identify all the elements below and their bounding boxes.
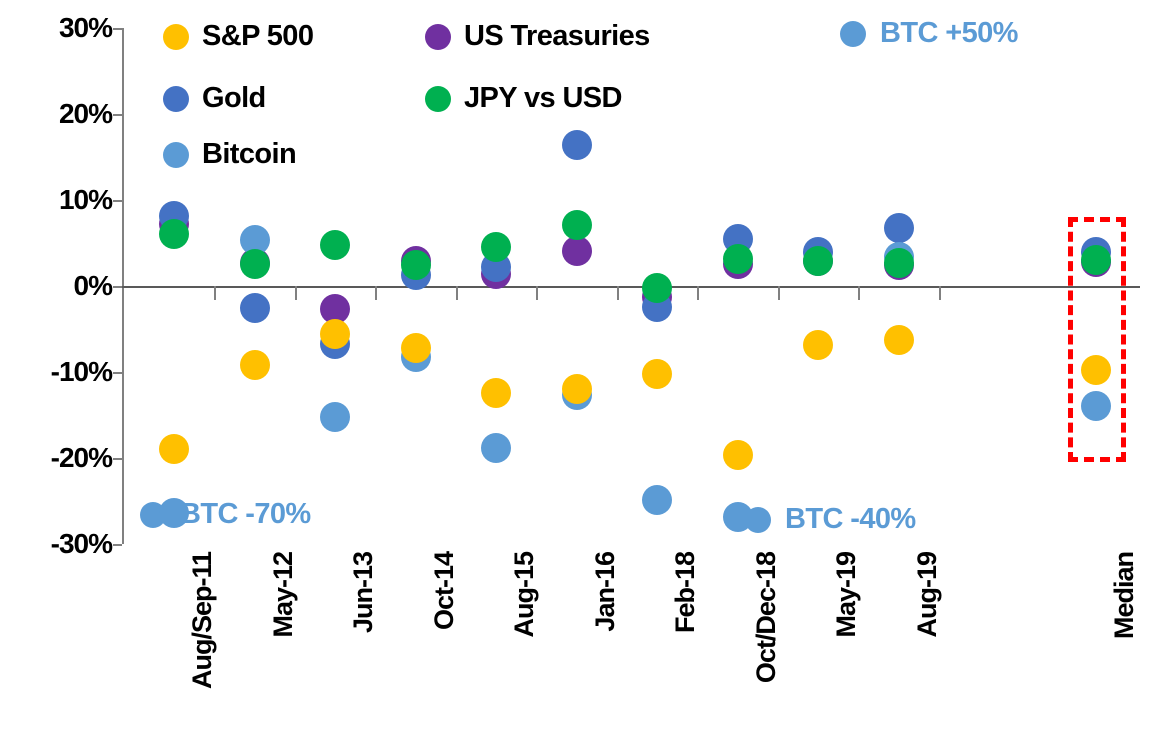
data-point [240, 249, 270, 279]
x-axis-tick-mark [697, 286, 699, 300]
y-axis-tick-mark [113, 372, 122, 374]
legend-item[interactable]: US Treasuries [425, 20, 650, 53]
data-point [562, 374, 592, 404]
y-axis-tick-label: -30% [0, 528, 112, 560]
data-point [481, 433, 511, 463]
data-point [723, 440, 753, 470]
data-point [320, 319, 350, 349]
data-point [803, 330, 833, 360]
legend-item-label: US Treasuries [464, 20, 650, 53]
y-axis-tick-mark [113, 28, 122, 30]
x-axis-tick-label: Median [1109, 552, 1140, 639]
legend-item[interactable]: Bitcoin [163, 138, 296, 171]
data-point [642, 273, 672, 303]
data-point [723, 502, 753, 532]
x-axis-tick-mark [617, 286, 619, 300]
legend-item[interactable]: S&P 500 [163, 20, 313, 53]
x-axis-tick-mark [536, 286, 538, 300]
y-axis-tick-mark [113, 544, 122, 546]
y-axis-tick-label: 10% [0, 184, 112, 216]
legend-marker-icon [163, 142, 189, 168]
data-point [320, 402, 350, 432]
data-point [159, 219, 189, 249]
data-point [401, 250, 431, 280]
legend-item-label: Bitcoin [202, 138, 296, 171]
x-axis-tick-label: Oct/Dec-18 [751, 552, 782, 683]
data-point [240, 293, 270, 323]
annotation-callout: BTC -40% [745, 503, 916, 536]
x-axis-tick-mark [456, 286, 458, 300]
annotation-callout: BTC +50% [840, 17, 1018, 50]
legend-marker-icon [425, 24, 451, 50]
data-point [884, 325, 914, 355]
data-point [159, 498, 189, 528]
y-axis-tick-mark [113, 114, 122, 116]
data-point [1081, 355, 1111, 385]
x-axis-tick-mark [375, 286, 377, 300]
data-point [723, 244, 753, 274]
x-axis-tick-mark [858, 286, 860, 300]
legend-item-label: Gold [202, 82, 266, 115]
x-axis-tick-mark [214, 286, 216, 300]
x-axis-tick-label: Aug-19 [912, 552, 943, 638]
x-axis-tick-label: May-19 [831, 552, 862, 638]
data-point [642, 485, 672, 515]
annotation-label: BTC +50% [880, 17, 1018, 50]
data-point [1081, 245, 1111, 275]
x-axis-tick-label: Jan-16 [590, 552, 621, 632]
data-point [481, 378, 511, 408]
legend-marker-icon [425, 86, 451, 112]
data-point [240, 350, 270, 380]
x-axis-tick-mark [939, 286, 941, 300]
chart-container: 30%20%10%0%-10%-20%-30% Aug/Sep-11May-12… [0, 0, 1151, 739]
data-point [562, 210, 592, 240]
x-axis-tick-label: Aug/Sep-11 [187, 552, 218, 689]
data-point [884, 248, 914, 278]
data-point [159, 434, 189, 464]
legend-item[interactable]: JPY vs USD [425, 82, 622, 115]
data-point [481, 232, 511, 262]
y-axis-tick-mark [113, 286, 122, 288]
legend-marker-icon [163, 86, 189, 112]
y-axis-tick-mark [113, 200, 122, 202]
data-point [884, 213, 914, 243]
y-axis-tick-mark [113, 458, 122, 460]
legend-marker-icon [163, 24, 189, 50]
y-axis-tick-label: -20% [0, 442, 112, 474]
legend-item-label: S&P 500 [202, 20, 313, 53]
y-axis-tick-label: 20% [0, 98, 112, 130]
x-axis-line [122, 286, 1140, 288]
plot-area [122, 28, 1140, 544]
data-point [320, 230, 350, 260]
data-point [642, 359, 672, 389]
annotation-marker-icon [840, 21, 866, 47]
annotation-label: BTC -70% [180, 498, 311, 531]
x-axis-tick-label: Feb-18 [670, 552, 701, 633]
y-axis-tick-label: 30% [0, 12, 112, 44]
x-axis-tick-label: Aug-15 [509, 552, 540, 638]
y-axis-tick-label: 0% [0, 270, 112, 302]
legend-item[interactable]: Gold [163, 82, 266, 115]
annotation-label: BTC -40% [785, 503, 916, 536]
y-axis-tick-label: -10% [0, 356, 112, 388]
data-point [1081, 391, 1111, 421]
x-axis-tick-label: Jun-13 [348, 552, 379, 633]
legend-item-label: JPY vs USD [464, 82, 622, 115]
data-point [401, 333, 431, 363]
x-axis-tick-mark [778, 286, 780, 300]
data-point [562, 236, 592, 266]
data-point [803, 246, 833, 276]
x-axis-tick-label: May-12 [268, 552, 299, 638]
x-axis-tick-label: Oct-14 [429, 552, 460, 630]
data-point [562, 130, 592, 160]
x-axis-tick-mark [295, 286, 297, 300]
